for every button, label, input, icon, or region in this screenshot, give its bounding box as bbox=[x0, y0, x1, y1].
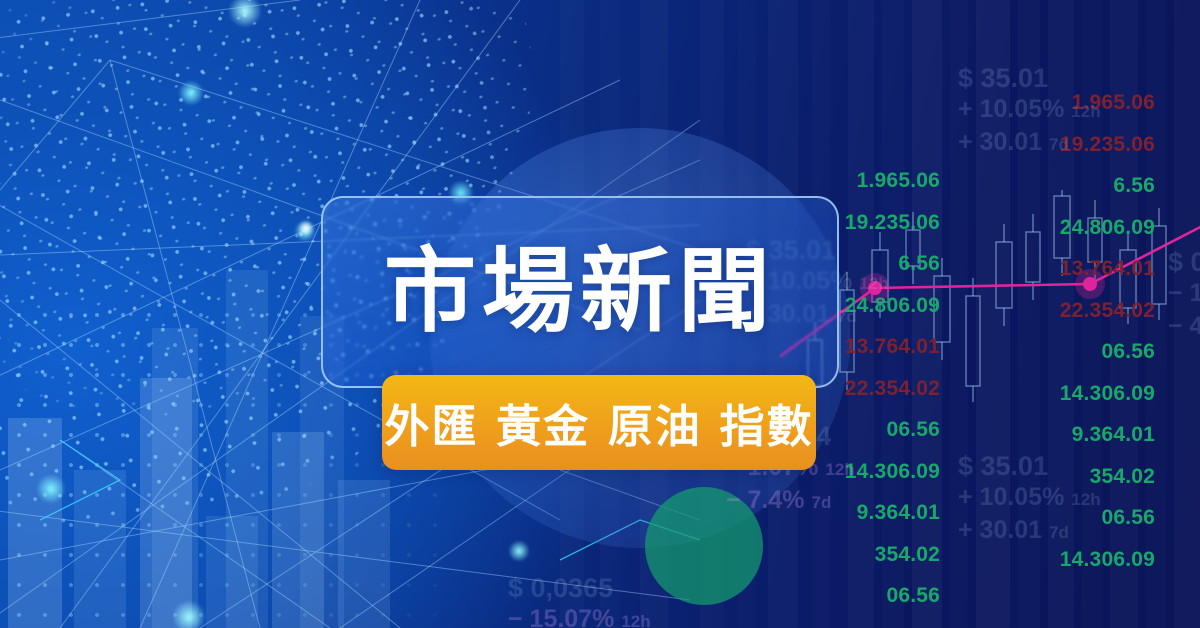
ticker-value: 14.306.09 bbox=[1060, 373, 1155, 415]
quote-change-12h: + 10.05% 12h bbox=[958, 482, 1101, 515]
quote-block-bottom-center: $ 0,0365 − 15.07% 12h − 40.4% 7d bbox=[508, 572, 651, 628]
quote-change-7d: − 7.4% 7d bbox=[726, 485, 855, 518]
quote-change-12h: − 15.07% 12h bbox=[508, 604, 651, 628]
quote-change-12h: − 15.07% 12h bbox=[1168, 278, 1200, 311]
quote-change-7d: + 30.01 7d bbox=[958, 127, 1101, 160]
quote-change-7d: + 30.01 7d bbox=[958, 515, 1101, 548]
ticker-column-mid: 1.965.0619.235.066.5624.806.0913.764.012… bbox=[845, 160, 940, 628]
quote-price: $ 0,0365 bbox=[508, 572, 651, 604]
ticker-value: 13.764.01 bbox=[845, 326, 940, 368]
glow-node bbox=[178, 80, 204, 106]
ticker-value: 354.02 bbox=[845, 534, 940, 576]
quote-price: $ 0,0365 bbox=[1168, 246, 1200, 278]
glow-node bbox=[172, 600, 206, 628]
page-title: 市場新聞 bbox=[384, 246, 776, 338]
quote-change-12h-suffix: 12h bbox=[825, 460, 854, 479]
category-badge[interactable]: 外匯 黃金 原油 指數 bbox=[382, 375, 816, 470]
ticker-value: 14.306.09 bbox=[845, 451, 940, 493]
glow-node bbox=[298, 220, 314, 236]
quote-price: $ 35.01 bbox=[958, 62, 1101, 94]
quote-change-7d-suffix: 7d bbox=[1049, 523, 1069, 542]
ticker-value: 9.364.01 bbox=[845, 492, 940, 534]
quote-change-7d-suffix: 7d bbox=[837, 307, 857, 326]
ticker-value: 22.354.02 bbox=[845, 368, 940, 410]
ticker-value: 24.806.09 bbox=[1060, 207, 1155, 249]
quote-change-12h-suffix: 12h bbox=[621, 612, 650, 628]
quote-change-12h-suffix: 12h bbox=[1071, 490, 1100, 509]
quote-block-far-right: $ 0,0365 − 15.07% 12h − 40.4% 7d bbox=[1168, 246, 1200, 344]
quote-change-12h: + 10.05% 12h bbox=[958, 94, 1101, 127]
quote-change-12h-suffix: 12h bbox=[1071, 102, 1100, 121]
ticker-value: 13.764.01 bbox=[1060, 248, 1155, 290]
quote-change-12h-suffix: 12h bbox=[859, 274, 888, 293]
quote-change-7d-suffix: 7d bbox=[811, 493, 831, 512]
ticker-value: 06.56 bbox=[1060, 331, 1155, 373]
ticker-value: 22.354.02 bbox=[1060, 290, 1155, 332]
ticker-value: 06.56 bbox=[845, 575, 940, 617]
ticker-value: 6.56 bbox=[1060, 165, 1155, 207]
quote-block-top: $ 35.01 + 10.05% 12h + 30.01 7d bbox=[958, 62, 1101, 160]
glow-node bbox=[36, 474, 66, 504]
title-card: 市場新聞 bbox=[321, 196, 839, 388]
ticker-value: 06.56 bbox=[845, 409, 940, 451]
quote-block-bottom-right: $ 35.01 + 10.05% 12h + 30.01 7d bbox=[958, 450, 1101, 548]
quote-change-7d-suffix: 7d bbox=[1049, 135, 1069, 154]
glow-node bbox=[508, 540, 530, 562]
banner-canvas: 1.965.0619.235.066.5624.806.0913.764.012… bbox=[0, 0, 1200, 628]
ticker-value: 14.306.09 bbox=[845, 617, 940, 628]
quote-price: $ 35.01 bbox=[958, 450, 1101, 482]
quote-change-7d: − 40.4% 7d bbox=[1168, 311, 1200, 344]
category-badge-label: 外匯 黃金 原油 指數 bbox=[384, 390, 813, 455]
ticker-value: 1.965.06 bbox=[845, 160, 940, 202]
